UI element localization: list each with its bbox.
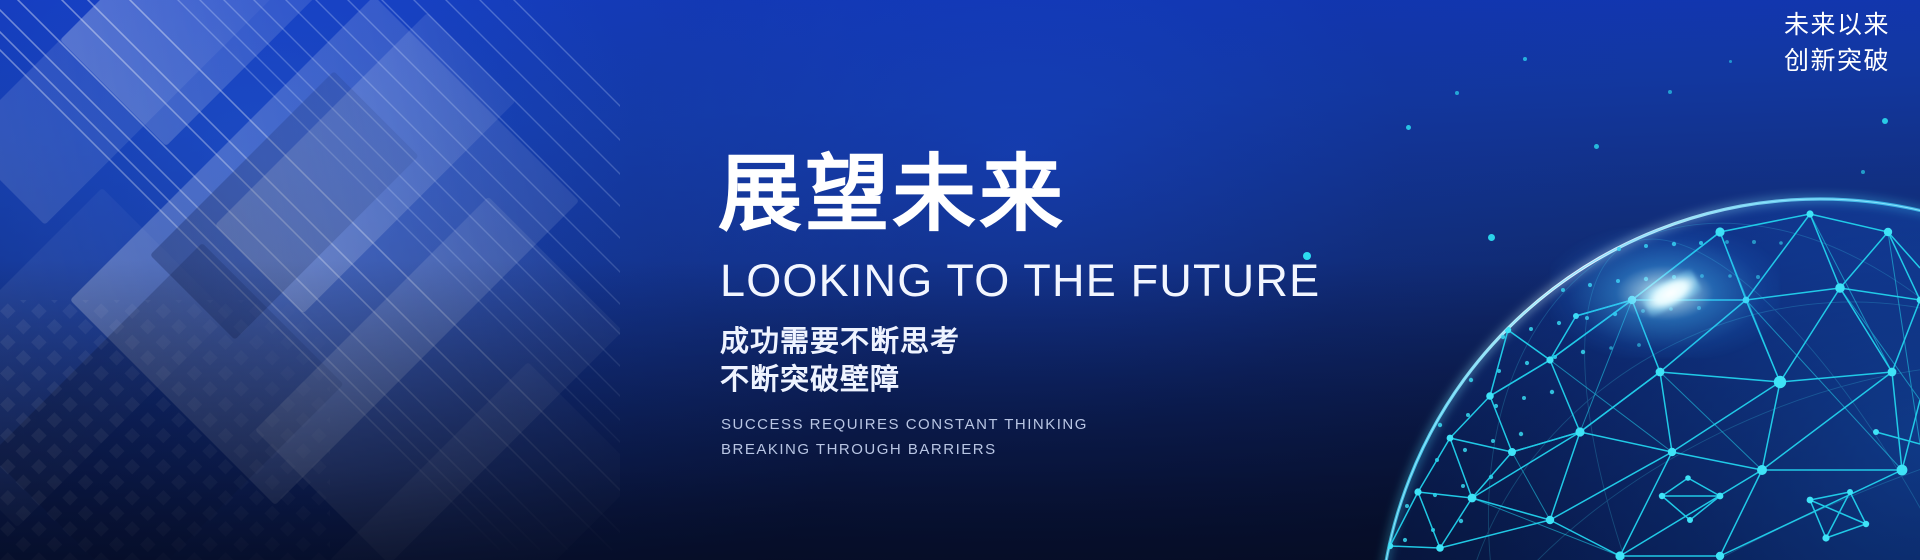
corner-tagline-line2: 创新突破 xyxy=(1784,44,1890,80)
subtitle-cn-line1: 成功需要不断思考 xyxy=(720,323,1358,361)
subtitle-en-line1: SUCCESS REQUIRES CONSTANT THINKING xyxy=(721,412,1358,438)
particle-dot xyxy=(1406,125,1411,130)
subtitle-cn: 成功需要不断思考 不断突破壁障 xyxy=(720,323,1358,400)
corner-tagline-line1: 未来以来 xyxy=(1784,8,1890,44)
particle-dot xyxy=(1455,91,1459,95)
headline-subtitle-en: LOOKING TO THE FUTURE xyxy=(720,258,1358,303)
corner-tagline: 未来以来 创新突破 xyxy=(1784,8,1890,79)
particle-dot xyxy=(1861,170,1865,174)
promo-banner: 展望未来 LOOKING TO THE FUTURE 成功需要不断思考 不断突破… xyxy=(0,0,1920,560)
page-title: 展望未来 xyxy=(718,152,1358,236)
subtitle-en-line2: BREAKING THROUGH BARRIERS xyxy=(721,437,1358,463)
subtitle-cn-line2: 不断突破壁障 xyxy=(720,361,1358,399)
particle-dot xyxy=(1668,90,1672,94)
particle-dot xyxy=(1882,118,1888,124)
subtitle-en: SUCCESS REQUIRES CONSTANT THINKING BREAK… xyxy=(721,412,1358,464)
particle-dot xyxy=(1488,234,1495,241)
particle-dot xyxy=(1729,60,1732,63)
particle-dot xyxy=(1523,57,1527,61)
hero-text-block: 展望未来 LOOKING TO THE FUTURE 成功需要不断思考 不断突破… xyxy=(718,152,1358,463)
particle-dot xyxy=(1594,144,1599,149)
